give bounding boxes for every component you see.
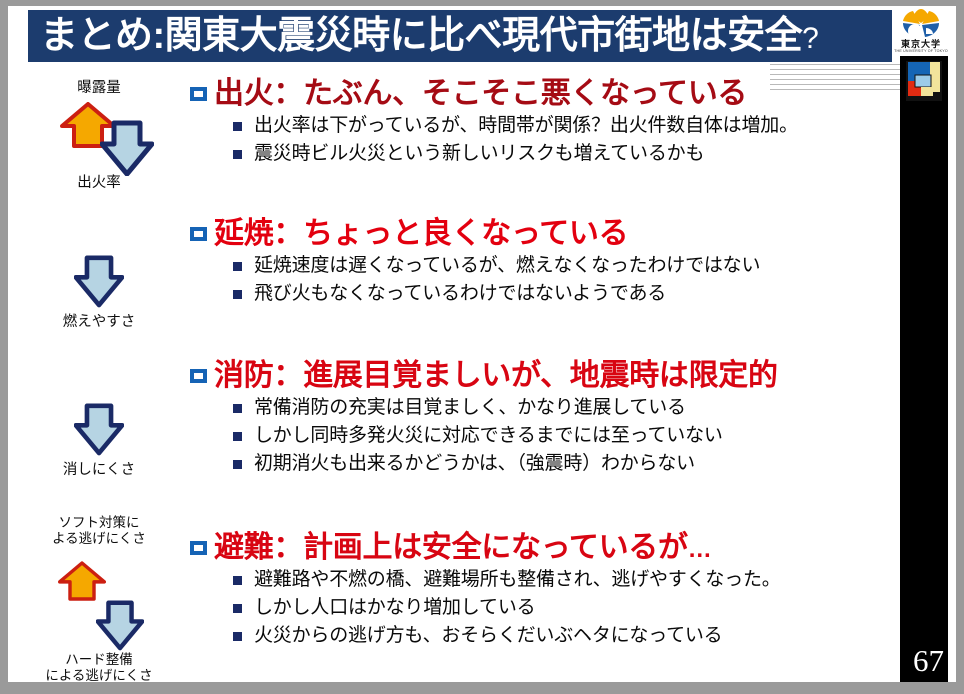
slide-title: まとめ:関東大震災時に比べ現代市街地は安全? xyxy=(40,17,818,55)
section-bullet-list: 出火率は下がっているが、時間帯が関係？出火件数自体は増加。 震災時ビル火災という… xyxy=(190,113,900,166)
utokyo-ginkgo-logo: 東京大学 THE UNIVERSITY OF TOKYO xyxy=(892,6,950,62)
section-title: 避難：計画上は安全になっているが… xyxy=(214,530,711,565)
open-square-bullet-icon xyxy=(190,369,207,383)
section-title: 消防：進展目覚ましいが、地震時は限定的 xyxy=(214,358,778,393)
list-item: 出火率は下がっているが、時間帯が関係？出火件数自体は増加。 xyxy=(190,113,900,139)
section-bullet-list: 避難路や不燃の橋、避難場所も整備され、逃げやすくなった。 しかし人口はかなり増加… xyxy=(190,567,900,648)
list-item: 火災からの逃げ方も、おそらくだいぶヘタになっている xyxy=(190,623,900,649)
page-number: 67 xyxy=(913,645,944,676)
list-item: 震災時ビル火災という新しいリスクも増えているかも xyxy=(190,141,900,167)
bullet-text: 震災時ビル火災という新しいリスクも増えているかも xyxy=(254,141,704,167)
right-black-bar xyxy=(900,56,948,682)
section-title: 延焼：ちょっと良くなっている xyxy=(214,216,628,251)
arrow-down-blue-icon-4 xyxy=(96,599,144,651)
factor-label-ignition-rate: 出火率 xyxy=(8,175,190,192)
arrow-down-blue-icon-1 xyxy=(100,120,154,176)
filled-square-bullet-icon xyxy=(233,432,242,441)
filled-square-bullet-icon xyxy=(233,460,242,469)
factor-label-flammability: 燃えやすさ xyxy=(8,314,190,331)
list-item: 初期消火も出来るかどうかは、（強震時）わからない xyxy=(190,451,900,477)
mondrian-decoration-icon xyxy=(906,61,942,101)
utokyo-logo-en-text: THE UNIVERSITY OF TOKYO xyxy=(892,50,950,53)
filled-square-bullet-icon xyxy=(233,604,242,613)
bullet-text: 避難路や不燃の橋、避難場所も整備され、逃げやすくなった。 xyxy=(254,567,781,593)
section-ignition: 出火：たぶん、そこそこ悪くなっている 出火率は下がっているが、時間帯が関係？出火… xyxy=(190,76,900,169)
bullet-text: しかし同時多発火災に対応できるまでには至っていない xyxy=(254,423,723,449)
bullet-text: 出火率は下がっているが、時間帯が関係？出火件数自体は増加。 xyxy=(254,113,798,139)
bottom-edge-strip xyxy=(0,682,964,694)
section-bullet-list: 常備消防の充実は目覚ましく、かなり進展している しかし同時多発火災に対応できるま… xyxy=(190,395,900,476)
section-heading-row: 出火：たぶん、そこそこ悪くなっている xyxy=(190,76,900,111)
factor-label-soft-measures: ソフト対策に よる逃げにくさ xyxy=(8,515,190,546)
list-item: しかし同時多発火災に対応できるまでには至っていない xyxy=(190,423,900,449)
section-fire-spread: 延焼：ちょっと良くなっている 延焼速度は遅くなっているが、燃えなくなったわけでは… xyxy=(190,216,900,309)
section-title: 出火：たぶん、そこそこ悪くなっている xyxy=(214,76,747,111)
arrow-down-blue-icon-2 xyxy=(74,253,124,309)
section-heading-row: 避難：計画上は安全になっているが… xyxy=(190,530,900,565)
bullet-text: 延焼速度は遅くなっているが、燃えなくなったわけではない xyxy=(254,253,760,279)
slide-title-question-mark: ? xyxy=(802,22,818,55)
bullet-text: 飛び火もなくなっているわけではないようである xyxy=(254,281,666,307)
bullet-text: しかし人口はかなり増加している xyxy=(254,595,535,621)
open-square-bullet-icon xyxy=(190,227,207,241)
list-item: 延焼速度は遅くなっているが、燃えなくなったわけではない xyxy=(190,253,900,279)
left-factor-column: 曝露量 出火率 燃えやすさ 消しにくさ ソフト対策に よる逃げにくさ xyxy=(8,68,190,682)
list-item: 避難路や不燃の橋、避難場所も整備され、逃げやすくなった。 xyxy=(190,567,900,593)
section-bullet-list: 延焼速度は遅くなっているが、燃えなくなったわけではない 飛び火もなくなっているわ… xyxy=(190,253,900,306)
list-item: 飛び火もなくなっているわけではないようである xyxy=(190,281,900,307)
arrow-down-blue-icon-3 xyxy=(74,401,124,457)
filled-square-bullet-icon xyxy=(233,404,242,413)
filled-square-bullet-icon xyxy=(233,632,242,641)
open-square-bullet-icon xyxy=(190,541,207,555)
slide-canvas: まとめ:関東大震災時に比べ現代市街地は安全? 東京大学 THE UNIVERSI… xyxy=(8,6,956,682)
section-firefighting: 消防：進展目覚ましいが、地震時は限定的 常備消防の充実は目覚ましく、かなり進展し… xyxy=(190,358,900,478)
filled-square-bullet-icon xyxy=(233,150,242,159)
list-item: 常備消防の充実は目覚ましく、かなり進展している xyxy=(190,395,900,421)
open-square-bullet-icon xyxy=(190,87,207,101)
slide-title-bar: まとめ:関東大震災時に比べ現代市街地は安全? xyxy=(28,10,908,62)
main-content-column: 出火：たぶん、そこそこ悪くなっている 出火率は下がっているが、時間帯が関係？出火… xyxy=(190,68,900,682)
presentation-slide: まとめ:関東大震災時に比べ現代市街地は安全? 東京大学 THE UNIVERSI… xyxy=(0,0,964,694)
factor-label-exposure: 曝露量 xyxy=(8,80,190,97)
bullet-text: 火災からの逃げ方も、おそらくだいぶヘタになっている xyxy=(254,623,722,649)
bullet-text: 常備消防の充実は目覚ましく、かなり進展している xyxy=(254,395,686,421)
filled-square-bullet-icon xyxy=(233,290,242,299)
factor-label-hard-to-extinguish: 消しにくさ xyxy=(8,462,190,479)
filled-square-bullet-icon xyxy=(233,576,242,585)
factor-label-hard-measures: ハード整備 による逃げにくさ xyxy=(8,652,190,682)
ginkgo-leaf-icon xyxy=(898,6,944,42)
section-heading-row: 消防：進展目覚ましいが、地震時は限定的 xyxy=(190,358,900,393)
list-item: しかし人口はかなり増加している xyxy=(190,595,900,621)
filled-square-bullet-icon xyxy=(233,122,242,131)
bullet-text: 初期消火も出来るかどうかは、（強震時）わからない xyxy=(254,451,695,477)
section-evacuation: 避難：計画上は安全になっているが… 避難路や不燃の橋、避難場所も整備され、逃げや… xyxy=(190,530,900,650)
filled-square-bullet-icon xyxy=(233,262,242,271)
utokyo-logo-jp-text: 東京大学 xyxy=(892,40,950,49)
arrow-up-orange-icon-2 xyxy=(58,560,106,602)
section-heading-row: 延焼：ちょっと良くなっている xyxy=(190,216,900,251)
